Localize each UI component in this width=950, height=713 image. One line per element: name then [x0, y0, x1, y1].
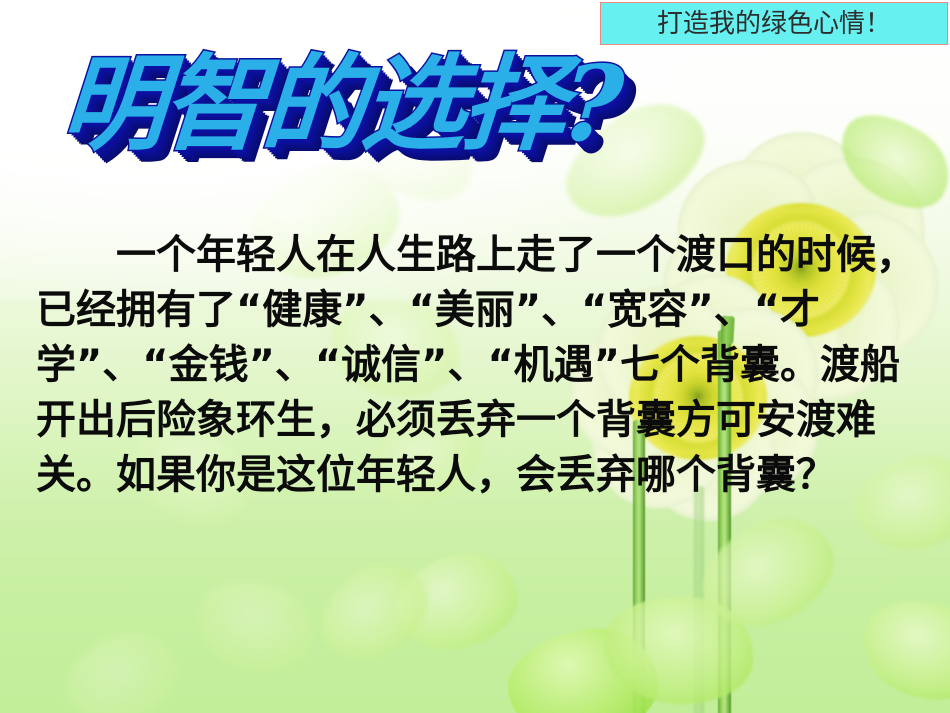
slide-canvas: 打造我的绿色心情！ 明智的选择? 一个年轻人在人生路上走了一个渡口的时候，已经拥… — [0, 0, 950, 713]
floating-petal — [55, 619, 189, 713]
floating-petal — [599, 588, 759, 711]
floating-petal — [850, 585, 950, 713]
flower-stem — [694, 486, 704, 713]
floating-petal — [824, 96, 950, 227]
floating-petal — [501, 620, 665, 713]
floating-petal — [387, 543, 528, 662]
body-paragraph: 一个年轻人在人生路上走了一个渡口的时候，已经拥有了“健康”、“美丽”、“宽容”、… — [36, 228, 924, 503]
floating-petal — [304, 546, 444, 678]
page-title-text: 明智的选择? — [58, 52, 685, 156]
floating-petal — [185, 564, 326, 687]
page-title: 明智的选择? — [62, 52, 682, 192]
floating-petal — [685, 499, 850, 647]
header-banner-text: 打造我的绿色心情！ — [657, 11, 891, 37]
header-banner: 打造我的绿色心情！ — [600, 2, 948, 45]
